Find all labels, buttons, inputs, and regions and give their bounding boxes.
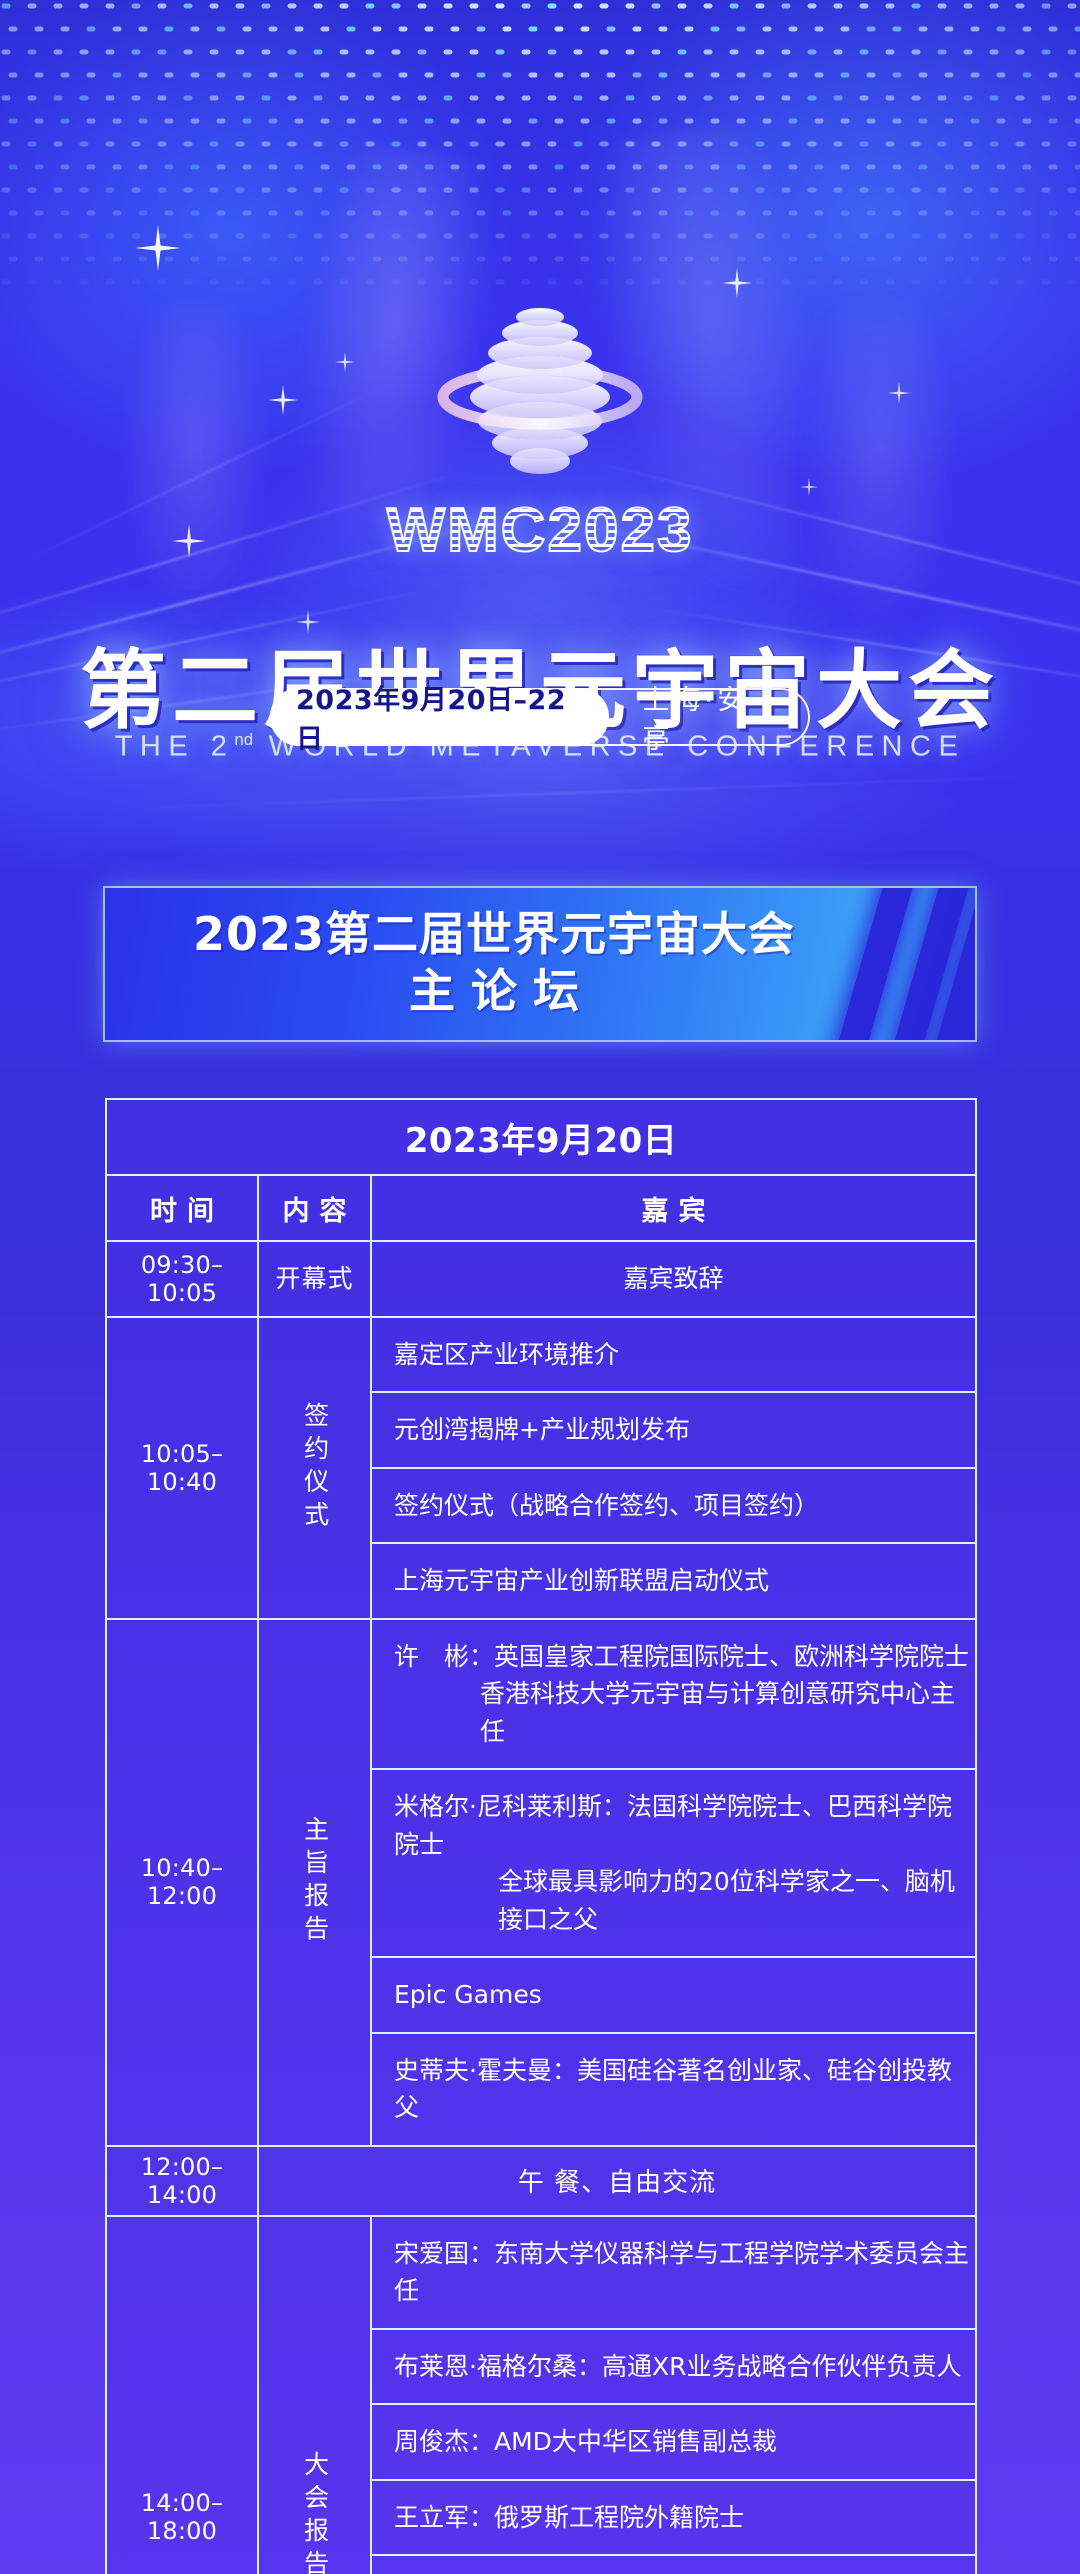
time-cell: 14:00–18:00 [106,2216,258,2574]
topic-vertical-text: 大会报告 [296,2451,332,2574]
column-header-0: 时间 [106,1175,258,1241]
guest-line-2: 香港科技大学元宇宙与计算创意研究中心主任 [394,1675,975,1750]
agenda-table: 2023年9月20日时间内容嘉宾09:30–10:05开幕式嘉宾致辞10:05–… [105,1098,977,2574]
guest-cell: 米格尔·尼科莱利斯：法国科学院院士、巴西科学院院士全球最具影响力的20位科学家之… [371,1769,976,1957]
banner-text: 2023第二届世界元宇宙大会 主论坛 [105,888,975,1040]
guest-cell: 王立军：俄罗斯工程院外籍院士 [371,2480,976,2556]
guest-cell: 签约仪式（战略合作签约、项目签约） [371,1468,976,1544]
topic-cell: 主旨报告 [258,1619,371,2146]
guest-cell: Epic Games [371,1957,976,2033]
table-row: 12:00–14:00午 餐、自由交流 [106,2146,976,2216]
table-row: 10:40–12:00主旨报告许 彬：英国皇家工程院国际院士、欧洲科学院院士香港… [106,1619,976,1770]
table-row: 10:05–10:40签约仪式嘉定区产业环境推介 [106,1317,976,1393]
guest-cell: 嘉定区产业环境推介 [371,1317,976,1393]
metaverse-stacked-disc-planet-icon [425,285,655,485]
time-cell: 10:40–12:00 [106,1619,258,2146]
guest-cell: 元创湾揭牌+产业规划发布 [371,1392,976,1468]
subtitle-ordinal: nd [234,730,253,749]
topic-cell: 开幕式 [258,1241,371,1317]
banner-body: 2023第二届世界元宇宙大会 主论坛 [105,888,975,1040]
guest-cell: 史蒂夫·霍夫曼：美国硅谷著名创业家、硅谷创投教父 [371,2033,976,2146]
time-cell: 10:05–10:40 [106,1317,258,1619]
guest-cell: 布莱恩·福格尔桑：高通XR业务战略合作伙伴负责人 [371,2329,976,2405]
table-row-column-header: 时间内容嘉宾 [106,1175,976,1241]
hero-section: WMC2023 WMC2023 第二届世界元宇宙大会 THE 2nd WORLD… [0,0,1080,800]
main-forum-banner: 2023第二届世界元宇宙大会 主论坛 [105,888,975,1040]
column-header-1: 内容 [258,1175,371,1241]
topic-cell: 大会报告 [258,2216,371,2574]
lunch-cell: 午 餐、自由交流 [258,2146,976,2216]
guest-cell: 上海元宇宙产业创新联盟启动仪式 [371,1543,976,1619]
table-row: 14:00–18:00大会报告宋爱国：东南大学仪器科学与工程学院学术委员会主任 [106,2216,976,2329]
topic-cell: 签约仪式 [258,1317,371,1619]
guest-cell: 周俊杰：AMD大中华区销售副总裁 [371,2404,976,2480]
guest-line-2: 全球最具影响力的20位科学家之一、脑机接口之父 [394,1863,975,1938]
time-cell: 12:00–14:00 [106,2146,258,2216]
guest-line-1: 米格尔·尼科莱利斯：法国科学院院士、巴西科学院院士 [394,1792,952,1859]
guest-cell: 中国电信 [371,2555,976,2574]
topic-vertical-text: 主旨报告 [296,1816,332,1948]
table-row-date-header: 2023年9月20日 [106,1099,976,1175]
time-cell: 09:30–10:05 [106,1241,258,1317]
column-header-2: 嘉宾 [371,1175,976,1241]
wmc-logo-text: WMC2023 [0,495,1080,566]
subtitle-pre: THE 2 [115,731,235,763]
banner-line-1: 2023第二届世界元宇宙大会 [193,907,795,961]
agenda-date-header: 2023年9月20日 [106,1099,976,1175]
poster-page: WMC2023 WMC2023 第二届世界元宇宙大会 THE 2nd WORLD… [0,0,1080,2574]
event-meta-pill: 2023年9月20日–22日 上海·安亭 [270,688,810,746]
banner-line-2: 主论坛 [393,962,595,1021]
guest-cell: 嘉宾致辞 [371,1241,976,1317]
event-place-badge: 上海·安亭 [609,690,809,744]
table-row: 09:30–10:05开幕式嘉宾致辞 [106,1241,976,1317]
event-date-badge: 2023年9月20日–22日 [270,688,609,746]
guest-cell: 许 彬：英国皇家工程院国际院士、欧洲科学院院士香港科技大学元宇宙与计算创意研究中… [371,1619,976,1770]
guest-line-1: 许 彬：英国皇家工程院国际院士、欧洲科学院院士 [394,1642,969,1671]
topic-vertical-text: 签约仪式 [296,1402,332,1534]
guest-cell: 宋爱国：东南大学仪器科学与工程学院学术委员会主任 [371,2216,976,2329]
